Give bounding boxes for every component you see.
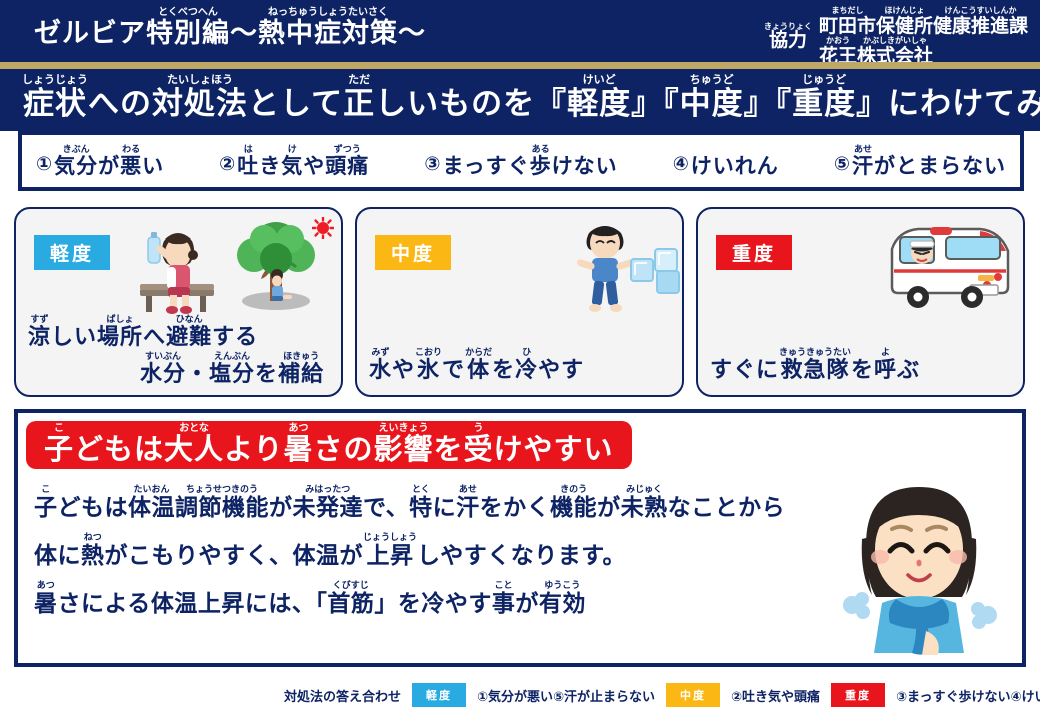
ruby-segment: みず水 <box>369 348 392 381</box>
symptom-text: は吐きけ気やずつう頭痛 <box>237 145 369 177</box>
ruby-segment: き <box>259 145 281 177</box>
ruby-segment: に <box>58 533 82 567</box>
ruby-segment: くびすじ首筋 <box>327 581 374 615</box>
ruby-base: がとまらない <box>874 156 1006 177</box>
ruby-base: 未発達 <box>293 496 364 519</box>
ruby-base: 首筋 <box>327 592 374 615</box>
answer-key-answer-2: ②吐き気や頭痛 <box>731 686 820 705</box>
ruby-segment: なことから <box>668 485 786 519</box>
ruby-base: ゼルビア <box>34 20 146 47</box>
symptom-item-2[interactable]: ②は吐きけ気やずつう頭痛 <box>219 145 369 177</box>
ruby-segment: 冷 <box>421 581 445 615</box>
answer-key-answer-1: ①気分が悪い⑤汗が止まらない <box>477 686 655 705</box>
info-panel-banner: こ子どもはおとな大人よりあつ暑さのえいきょう影響をう受けやすい <box>26 421 632 469</box>
ruby-segment: ・ <box>186 352 209 385</box>
ruby-segment: すいぶん水分 <box>140 352 186 385</box>
poster-page: ゼルビアとくべつへん特別編〜ねっちゅうしょうたいさく熱中症対策〜 きょうりょく … <box>0 0 1040 720</box>
ruby-segment: けんこうすいしんか健康推進課 <box>933 7 1028 36</box>
ruby-base: へ <box>143 326 166 348</box>
symptom-item-4[interactable]: ④けいれん <box>673 145 779 177</box>
sun-icon <box>312 217 334 239</box>
info-panel-line-2: 体にねつ熱がこもりやすく、体温がじょうしょう上昇しやすくなります。 <box>34 533 785 567</box>
credit-line-1: まちだし町田市ほけんじょ保健所けんこうすいしんか健康推進課 <box>819 7 1028 36</box>
ruby-segment: きゅうきゅうたい救急隊 <box>779 348 851 381</box>
ruby-segment: けない <box>552 145 618 177</box>
ruby-base: が <box>340 544 364 567</box>
ruby-segment: ねっちゅうしょうたいさく熱中症対策 <box>258 8 398 47</box>
info-panel-line-1: こ子どもはたいおん体温ちょうせつきのう調節機能がみはったつ未発達で、とく特にあせ… <box>34 485 785 519</box>
header-bar: ゼルビアとくべつへん特別編〜ねっちゅうしょうたいさく熱中症対策〜 きょうりょく … <box>0 0 1040 62</box>
ruby-segment: おとな大人 <box>164 424 224 465</box>
ruby-segment: けいれん <box>691 145 779 177</box>
ruby-segment: あせ汗 <box>852 145 874 177</box>
ruby-base: や <box>303 156 325 177</box>
symptom-items: ①きぶん気分がわる悪い②は吐きけ気やずつう頭痛③まっすぐある歩けない④けいれん⑤… <box>22 145 1020 177</box>
ruby-segment: さの <box>313 424 373 465</box>
ruby-segment: ゆうこう有効 <box>539 581 586 615</box>
credit-block: きょうりょく 協力 まちだし町田市ほけんじょ保健所けんこうすいしんか健康推進課 … <box>764 7 1028 66</box>
ruby-base: 特別編 <box>146 20 230 47</box>
info-panel-line-3: あつ暑さによる体温上昇には、「くびすじ首筋」を冷やすこと事がゆうこう有効 <box>34 581 785 615</box>
ruby-base: 対処法 <box>152 88 248 119</box>
symptom-item-3[interactable]: ③まっすぐある歩けない <box>424 145 617 177</box>
ruby-segment: を <box>851 348 874 381</box>
ruby-base: が <box>269 496 293 519</box>
ruby-segment: で <box>442 348 465 381</box>
ruby-segment: よ呼 <box>874 348 897 381</box>
ruby-base: 汗 <box>456 496 480 519</box>
ruby-base: 体 <box>467 359 490 381</box>
answer-key-badge-2: 中度 <box>666 683 720 707</box>
symptom-text: まっすぐある歩けない <box>442 145 617 177</box>
ruby-segment: が <box>597 485 621 519</box>
ruby-segment: ぶ <box>897 348 920 381</box>
ruby-base: 熱 <box>81 544 105 567</box>
ruby-segment: すず涼 <box>28 315 51 348</box>
ruby-segment: は吐 <box>237 145 259 177</box>
ruby-segment: たいしょほう対処法 <box>152 75 248 119</box>
ruby-segment: い <box>142 145 164 177</box>
ruby-base: や <box>392 359 415 381</box>
ruby-segment: みはったつ未発達 <box>293 485 364 519</box>
ruby-base: 水 <box>369 359 392 381</box>
ruby-segment: が <box>269 485 293 519</box>
ruby-segment: 〜 <box>230 8 258 47</box>
credit-organizations: まちだし町田市ほけんじょ保健所けんこうすいしんか健康推進課 かおう花王かぶしきが… <box>819 7 1028 66</box>
ruby-segment: どもは <box>74 424 164 465</box>
ruby-segment: がこもりやすく、 <box>105 533 293 567</box>
ruby-base: ぶ <box>897 359 920 381</box>
page-title: ゼルビアとくべつへん特別編〜ねっちゅうしょうたいさく熱中症対策〜 <box>34 8 426 47</box>
ruby-base: 悪 <box>120 156 142 177</box>
ruby-base: 水分 <box>140 363 186 385</box>
ruby-segment: ちょうせつきのう調節機能 <box>175 485 269 519</box>
ruby-segment: ある歩 <box>530 145 552 177</box>
ruby-segment: への <box>88 75 152 119</box>
ruby-base: どもは <box>58 496 129 519</box>
ruby-base: 呼 <box>874 359 897 381</box>
ruby-segment: しいものを『 <box>375 75 567 119</box>
ruby-base: 』にわけてみよう！ <box>856 88 1040 119</box>
ruby-segment: あつ暑 <box>283 424 313 465</box>
ruby-base: 』『 <box>631 88 680 119</box>
symptom-number: ③ <box>424 153 440 177</box>
ruby-base: 事 <box>492 592 516 615</box>
info-panel: こ子どもはおとな大人よりあつ暑さのえいきょう影響をう受けやすい こ子どもはたいお… <box>14 409 1026 667</box>
ruby-base: より <box>224 436 283 465</box>
ruby-base: ・ <box>186 363 209 385</box>
ruby-base: 〜 <box>230 20 258 47</box>
ruby-segment: ずつう頭痛 <box>325 145 369 177</box>
ruby-base: 健康推進課 <box>933 17 1028 36</box>
ruby-base: しい <box>51 326 97 348</box>
ruby-segment: あつ暑 <box>34 581 58 615</box>
ruby-segment: わる悪 <box>120 145 142 177</box>
page-title-text: ゼルビアとくべつへん特別編〜ねっちゅうしょうたいさく熱中症対策〜 <box>34 8 426 47</box>
severity-cards: 軽度 <box>14 207 1026 397</box>
ruby-segment: が <box>515 581 539 615</box>
ruby-segment: しょうじょう症状 <box>22 75 88 119</box>
ambulance-illustration <box>884 219 1016 315</box>
symptom-number: ② <box>219 153 235 177</box>
ruby-segment: や <box>303 145 325 177</box>
ruby-segment: ちゅうど中度 <box>680 75 744 119</box>
ruby-segment: へ <box>143 315 166 348</box>
ruby-base: 暑 <box>34 592 58 615</box>
ruby-base: けいれん <box>691 156 779 177</box>
ruby-segment: とくべつへん特別編 <box>146 8 230 47</box>
ruby-segment: すぐに <box>710 348 779 381</box>
ruby-segment: で、 <box>363 485 409 519</box>
ruby-base: 」を <box>374 592 421 615</box>
card-mild-line-2: すいぶん水分・えんぶん塩分をほきゅう補給 <box>28 352 324 385</box>
ruby-segment: えんぶん塩分 <box>209 352 255 385</box>
ruby-base: 冷 <box>515 359 538 381</box>
credit-label: きょうりょく 協力 <box>764 23 812 50</box>
ruby-base: 吐 <box>237 156 259 177</box>
ruby-segment: ほけんじょ保健所 <box>876 7 933 36</box>
ruby-base: 軽度 <box>567 88 631 119</box>
ruby-base: を <box>434 436 464 465</box>
ruby-segment: きのう機能 <box>550 485 597 519</box>
ruby-base: が <box>515 592 539 615</box>
ruby-segment: こ子 <box>34 485 58 519</box>
ruby-segment: さによる <box>58 581 151 615</box>
ruby-base: 保健所 <box>876 17 933 36</box>
ruby-segment: あせ汗 <box>456 485 480 519</box>
ruby-segment: ばしょ場所 <box>97 315 143 348</box>
answer-key-label: 対処法の答え合わせ <box>284 686 401 705</box>
ruby-base: を <box>851 359 874 381</box>
answer-key-answer-3: ③まっすぐ歩けない④けいれん <box>896 686 1040 705</box>
ruby-segment: ねつ熱 <box>81 533 105 567</box>
ruby-base: 症状 <box>23 88 87 119</box>
ruby-segment: まっすぐ <box>442 145 529 177</box>
info-panel-banner-text: こ子どもはおとな大人よりあつ暑さのえいきょう影響をう受けやすい <box>44 424 614 465</box>
ruby-segment: ただ正 <box>343 75 375 119</box>
ruby-base: さの <box>313 436 373 465</box>
ruby-segment: け気 <box>281 145 303 177</box>
ruby-segment: えいきょう影響 <box>374 424 434 465</box>
ruby-segment: が <box>98 145 120 177</box>
ruby-segment: とく特 <box>409 485 433 519</box>
ruby-base: 未熟 <box>621 496 668 519</box>
ruby-segment: として <box>248 75 343 119</box>
ruby-base: 体 <box>34 544 58 567</box>
ruby-segment: こと事 <box>492 581 516 615</box>
ruby-segment: 体温上昇 <box>151 581 245 615</box>
ruby-base: で、 <box>363 496 409 519</box>
card-mild-line-1: すず涼しいばしょ場所へひなん避難する <box>28 315 324 348</box>
ruby-base: い <box>142 156 164 177</box>
ruby-segment: こおり氷 <box>415 348 442 381</box>
credit-label-base: 協力 <box>769 31 807 50</box>
ruby-segment: こ子 <box>44 424 74 465</box>
ruby-segment: きぶん気分 <box>54 145 98 177</box>
symptom-number: ⑤ <box>834 153 850 177</box>
tree-shade-illustration <box>228 219 324 315</box>
ruby-segment: を <box>492 348 515 381</box>
symptom-text: あせ汗がとまらない <box>852 145 1006 177</box>
ruby-base: 暑 <box>283 436 313 465</box>
ruby-segment: たいおん体温 <box>128 485 175 519</box>
ruby-segment: じゅうど重度 <box>792 75 856 119</box>
ruby-base: を <box>492 359 515 381</box>
card-severe-text: すぐにきゅうきゅうたい救急隊をよ呼ぶ <box>710 348 920 385</box>
ruby-base: まっすぐ <box>442 156 529 177</box>
symptom-text: きぶん気分がわる悪い <box>54 145 164 177</box>
ruby-base: 頭痛 <box>325 156 369 177</box>
ruby-segment: やす <box>538 348 584 381</box>
ruby-base: 重度 <box>792 88 856 119</box>
ruby-base: 大人 <box>164 436 224 465</box>
ruby-base: 中度 <box>680 88 744 119</box>
girl-drinking-water-illustration <box>134 223 222 315</box>
ruby-base: 気分 <box>54 156 98 177</box>
ruby-base: やす <box>538 359 584 381</box>
ruby-base: しやすくなります。 <box>417 544 626 567</box>
header-gold-divider <box>0 62 1040 69</box>
ruby-base: 正 <box>343 88 375 119</box>
symptom-item-5[interactable]: ⑤あせ汗がとまらない <box>834 145 1006 177</box>
ruby-segment: ひなん避難 <box>166 315 212 348</box>
ruby-base: が <box>597 496 621 519</box>
ruby-base: けやすい <box>494 436 614 465</box>
ruby-base: 氷 <box>417 359 440 381</box>
ruby-base: 』『 <box>744 88 793 119</box>
ruby-base: 気 <box>281 156 303 177</box>
ruby-segment: みじゅく未熟 <box>621 485 668 519</box>
card-moderate-text: みず水やこおり氷でからだ体をひ冷やす <box>369 348 584 385</box>
ruby-segment: ゼルビア <box>34 8 146 47</box>
ruby-base: がこもりやすく、 <box>105 544 293 567</box>
ruby-base: で <box>442 359 465 381</box>
ruby-segment: より <box>224 424 283 465</box>
ruby-segment: じょうしょう上昇 <box>363 533 417 567</box>
ruby-segment: 体温 <box>293 533 340 567</box>
ruby-segment: 」を <box>374 581 421 615</box>
ruby-segment: に <box>433 485 457 519</box>
card-moderate-line-1: みず水やこおり氷でからだ体をひ冷やす <box>369 348 584 381</box>
symptom-text: けいれん <box>691 145 779 177</box>
ruby-segment: ひ冷 <box>515 348 538 381</box>
ruby-base: やす <box>445 592 492 615</box>
ruby-base: への <box>88 88 152 119</box>
ruby-base: 冷 <box>421 592 445 615</box>
ruby-base: 町田市 <box>819 17 876 36</box>
severity-card-moderate[interactable]: 中度 <box>355 207 684 397</box>
badge-severe: 重度 <box>716 235 792 270</box>
ruby-base: 調節機能 <box>175 496 269 519</box>
ruby-base: 影響 <box>374 436 434 465</box>
ruby-base: どもは <box>74 436 164 465</box>
ruby-base: 子 <box>34 496 58 519</box>
ruby-base: 歩 <box>530 156 552 177</box>
ruby-segment: が <box>340 533 364 567</box>
symptom-number: ① <box>36 153 52 177</box>
ruby-segment: を <box>255 352 278 385</box>
ruby-base: 〜 <box>398 20 426 47</box>
ruby-base: 有効 <box>539 592 586 615</box>
ruby-base: さによる <box>58 592 151 615</box>
ruby-base: を <box>255 363 278 385</box>
ruby-segment: や <box>392 348 415 381</box>
ruby-segment: 』『 <box>631 75 680 119</box>
ruby-base: として <box>248 88 343 119</box>
ruby-base: 子 <box>44 436 74 465</box>
ruby-base: 受 <box>464 436 494 465</box>
ruby-segment: う受 <box>464 424 494 465</box>
ruby-segment: がとまらない <box>874 145 1006 177</box>
ruby-base: けない <box>552 156 618 177</box>
girl-cooling-neck-illustration <box>830 479 1008 659</box>
ruby-base: 避難 <box>166 326 212 348</box>
ruby-base: き <box>259 156 281 177</box>
question-banner: しょうじょう症状へのたいしょほう対処法としてただ正しいものを『けいど軽度』『ちゅ… <box>0 69 1040 131</box>
ruby-base: すぐに <box>710 359 779 381</box>
ruby-base: 上昇 <box>367 544 414 567</box>
ruby-segment: 』にわけてみよう！ <box>856 75 1040 119</box>
ruby-segment: けいど軽度 <box>567 75 631 119</box>
ruby-segment: する <box>212 315 258 348</box>
ruby-segment: を <box>434 424 464 465</box>
ruby-segment: からだ体 <box>465 348 492 381</box>
ruby-base: が <box>98 156 120 177</box>
ruby-base: 補給 <box>278 363 324 385</box>
ruby-segment: 』『 <box>744 75 793 119</box>
ruby-segment: ほきゅう補給 <box>278 352 324 385</box>
ruby-base: 特 <box>409 496 433 519</box>
ruby-segment: どもは <box>58 485 129 519</box>
ruby-segment: やす <box>445 581 492 615</box>
ruby-segment: しい <box>51 315 97 348</box>
ice-cubes-illustration <box>629 245 684 297</box>
ruby-segment: 〜 <box>398 8 426 47</box>
badge-moderate: 中度 <box>375 235 451 270</box>
ruby-segment: しやすくなります。 <box>417 533 626 567</box>
ruby-segment: をかく <box>480 485 551 519</box>
ruby-base: 体温上昇 <box>151 592 245 615</box>
symptom-number: ④ <box>673 153 689 177</box>
ruby-base: には、「 <box>245 592 328 615</box>
severity-card-severe[interactable]: 重度 すぐにきゅうきゅうたい救急 <box>696 207 1025 397</box>
answer-key-badge-3: 重度 <box>831 683 885 707</box>
ruby-base: 塩分 <box>209 363 255 385</box>
ruby-base: 体温 <box>128 496 175 519</box>
ruby-base: 汗 <box>852 156 874 177</box>
ruby-segment: 体 <box>34 533 58 567</box>
ruby-base: 熱中症対策 <box>258 20 398 47</box>
ruby-segment: けやすい <box>494 424 614 465</box>
ruby-base: しいものを『 <box>375 88 567 119</box>
severity-card-mild[interactable]: 軽度 <box>14 207 343 397</box>
ruby-base: をかく <box>480 496 551 519</box>
symptom-item-1[interactable]: ①きぶん気分がわる悪い <box>36 145 164 177</box>
ruby-segment: には、「 <box>245 581 328 615</box>
ruby-base: に <box>58 544 82 567</box>
answer-key-footer: 対処法の答え合わせ 軽度①気分が悪い⑤汗が止まらない中度②吐き気や頭痛重度③まっ… <box>0 678 1040 712</box>
ruby-base: に <box>433 496 457 519</box>
question-banner-text: しょうじょう症状へのたいしょほう対処法としてただ正しいものを『けいど軽度』『ちゅ… <box>22 75 1040 119</box>
ruby-base: する <box>212 326 258 348</box>
badge-mild: 軽度 <box>34 235 110 270</box>
answer-key-badge-1: 軽度 <box>412 683 466 707</box>
ruby-base: 救急隊 <box>781 359 850 381</box>
ruby-base: 涼 <box>28 326 51 348</box>
info-panel-body: こ子どもはたいおん体温ちょうせつきのう調節機能がみはったつ未発達で、とく特にあせ… <box>34 485 785 629</box>
card-severe-line-1: すぐにきゅうきゅうたい救急隊をよ呼ぶ <box>710 348 920 381</box>
symptom-list-box: ①きぶん気分がわる悪い②は吐きけ気やずつう頭痛③まっすぐある歩けない④けいれん⑤… <box>18 131 1024 191</box>
ruby-base: 体温 <box>293 544 340 567</box>
ruby-segment: まちだし町田市 <box>819 7 876 36</box>
ruby-base: なことから <box>668 496 786 519</box>
card-mild-text: すず涼しいばしょ場所へひなん避難する すいぶん水分・えんぶん塩分をほきゅう補給 <box>28 315 324 385</box>
ruby-base: 場所 <box>97 326 143 348</box>
ruby-base: 機能 <box>550 496 597 519</box>
